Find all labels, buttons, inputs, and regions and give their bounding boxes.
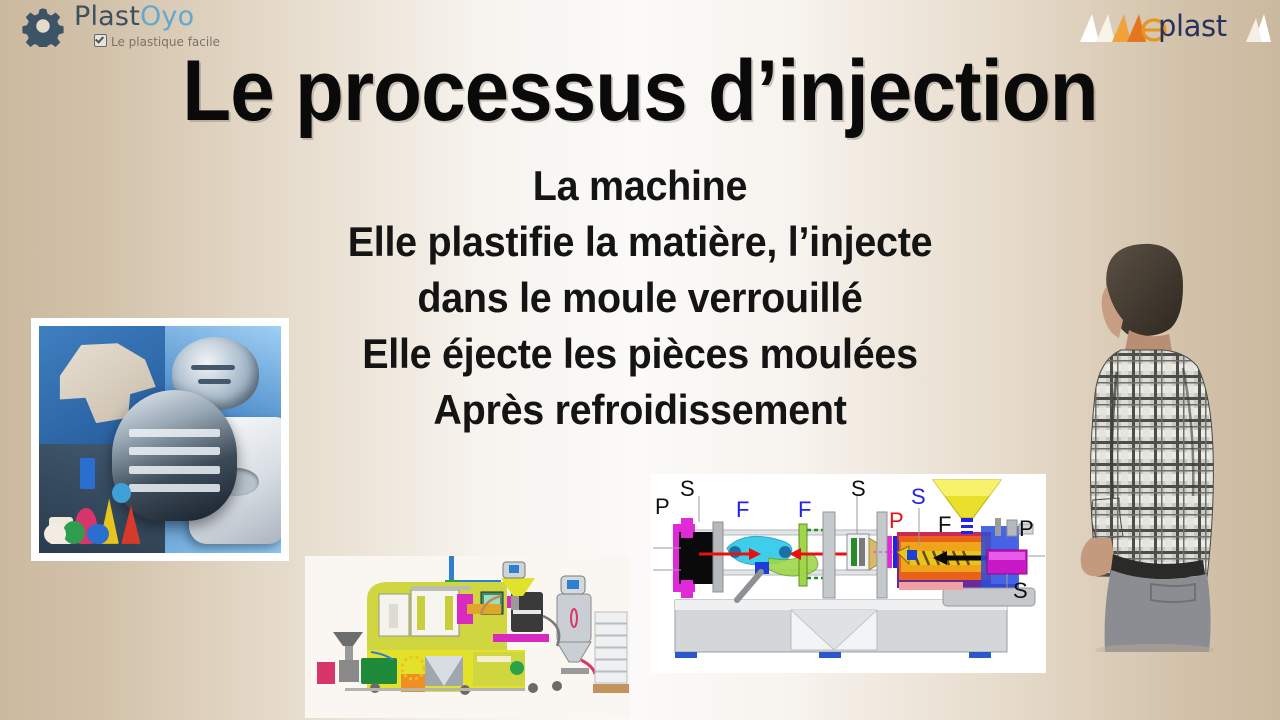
diagram-label-s-left: S	[680, 478, 695, 500]
operator-person-photo	[1055, 232, 1233, 652]
diagram-label-f-three: F	[938, 514, 951, 536]
brand-part-2: Oyo	[140, 1, 194, 32]
checkbox-icon	[94, 34, 107, 47]
diagram-label-f-two: F	[798, 499, 811, 521]
operator-illustration	[1055, 232, 1233, 652]
brand-name: PlastOyo	[74, 1, 194, 32]
diagram-label-s-right: S	[1013, 580, 1028, 602]
injection-schematic	[651, 474, 1046, 673]
diagram-label-s-blue: S	[911, 486, 926, 508]
injection-machine-illustration	[305, 556, 630, 718]
molded-parts-photo	[31, 318, 289, 561]
diagram-label-f-one: F	[736, 499, 749, 521]
diagram-label-p-right: P	[1019, 518, 1034, 540]
weplast-word: plast	[1158, 9, 1227, 43]
logo-weplast: plast	[1072, 6, 1272, 48]
body-line: La machine	[38, 158, 1241, 214]
slide-canvas: PlastOyo Le plastique facile plast Le pr…	[0, 0, 1280, 720]
injection-machine-photo	[305, 556, 630, 718]
injection-process-diagram: P S F F S S P F P S	[651, 474, 1046, 673]
diagram-label-p-left: P	[655, 496, 670, 518]
diagram-label-s-middle: S	[851, 478, 866, 500]
gear-icon	[22, 5, 64, 47]
brand-part-1: Plast	[74, 1, 140, 32]
diagram-label-p-red: P	[889, 510, 904, 532]
page-title: Le processus d’injection	[45, 48, 1235, 134]
